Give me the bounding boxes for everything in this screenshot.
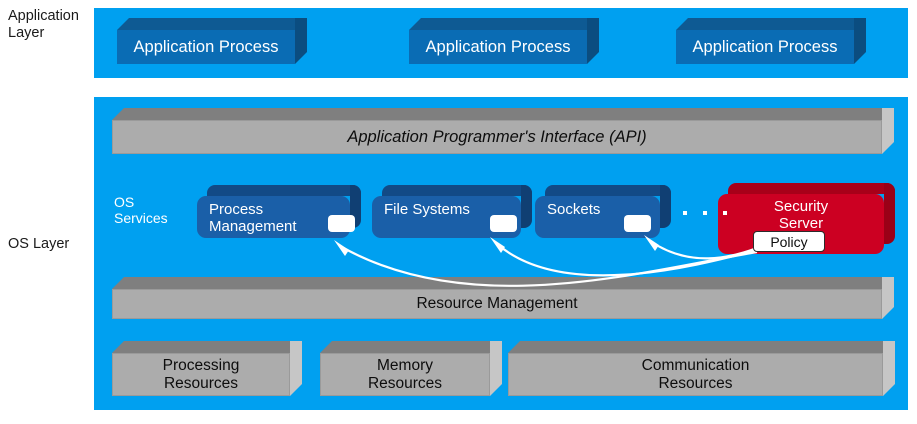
resource-block-label: Memory Resources bbox=[368, 357, 442, 392]
block-front-face: Application Process bbox=[117, 30, 295, 64]
service-box-label: File Systems bbox=[372, 196, 470, 219]
block-front-face: Resource Management bbox=[112, 289, 882, 319]
resource-block-processing: Processing Resources bbox=[112, 341, 302, 396]
block-front-face: Communication Resources bbox=[508, 353, 883, 396]
security-server-top-face bbox=[728, 183, 895, 194]
diagram-canvas: Application Layer OS Layer Application P… bbox=[0, 0, 917, 424]
os-layer-caption: OS Layer bbox=[8, 236, 92, 253]
policy-hook-file-systems bbox=[490, 215, 517, 232]
block-top-face bbox=[676, 18, 866, 30]
resource-block-label: Processing Resources bbox=[163, 357, 240, 392]
block-top-face bbox=[508, 341, 895, 353]
service-box-top-face bbox=[207, 185, 361, 196]
service-box-top-face bbox=[545, 185, 671, 196]
block-top-face bbox=[409, 18, 599, 30]
os-services-label: OS Services bbox=[114, 194, 190, 226]
policy-hook-process-management bbox=[328, 215, 355, 232]
resource-management-bar: Resource Management bbox=[112, 277, 894, 319]
application-process-block-3: Application Process bbox=[676, 18, 866, 64]
policy-box[interactable]: Policy bbox=[753, 231, 825, 252]
block-side-face bbox=[854, 18, 866, 64]
resource-block-memory: Memory Resources bbox=[320, 341, 502, 396]
block-side-face bbox=[295, 18, 307, 64]
application-process-label: Application Process bbox=[693, 38, 838, 56]
application-layer-caption: Application Layer bbox=[8, 8, 88, 42]
policy-label: Policy bbox=[770, 234, 807, 250]
block-top-face bbox=[320, 341, 502, 353]
block-top-face bbox=[112, 341, 302, 353]
service-box-label: Sockets bbox=[535, 196, 600, 219]
block-top-face bbox=[112, 277, 894, 289]
service-box-label: Process Management bbox=[197, 196, 297, 236]
block-top-face bbox=[112, 108, 894, 120]
block-side-face bbox=[587, 18, 599, 64]
block-side-face bbox=[883, 341, 895, 396]
block-side-face bbox=[882, 108, 894, 154]
resource-management-label: Resource Management bbox=[416, 295, 577, 312]
block-front-face: Processing Resources bbox=[112, 353, 290, 396]
block-side-face bbox=[490, 341, 502, 396]
service-box-side-face bbox=[660, 185, 671, 228]
api-bar-label: Application Programmer's Interface (API) bbox=[347, 128, 646, 146]
application-process-label: Application Process bbox=[134, 38, 279, 56]
security-server-label: Security Server bbox=[718, 194, 884, 233]
resource-block-communication: Communication Resources bbox=[508, 341, 895, 396]
resource-block-label: Communication Resources bbox=[642, 357, 750, 392]
security-server-side-face bbox=[884, 183, 895, 244]
block-front-face: Application Programmer's Interface (API) bbox=[112, 120, 882, 154]
application-process-label: Application Process bbox=[426, 38, 571, 56]
policy-hook-sockets bbox=[624, 215, 651, 232]
service-box-side-face bbox=[521, 185, 532, 228]
block-front-face: Memory Resources bbox=[320, 353, 490, 396]
block-side-face bbox=[290, 341, 302, 396]
application-process-block-1: Application Process bbox=[117, 18, 307, 64]
block-top-face bbox=[117, 18, 307, 30]
application-process-block-2: Application Process bbox=[409, 18, 599, 64]
block-front-face: Application Process bbox=[676, 30, 854, 64]
service-box-top-face bbox=[382, 185, 532, 196]
api-bar: Application Programmer's Interface (API) bbox=[112, 108, 894, 154]
block-front-face: Application Process bbox=[409, 30, 587, 64]
service-box-sockets[interactable]: Sockets bbox=[535, 185, 671, 238]
service-box-front-face: Process Management bbox=[197, 196, 350, 238]
block-side-face bbox=[882, 277, 894, 319]
